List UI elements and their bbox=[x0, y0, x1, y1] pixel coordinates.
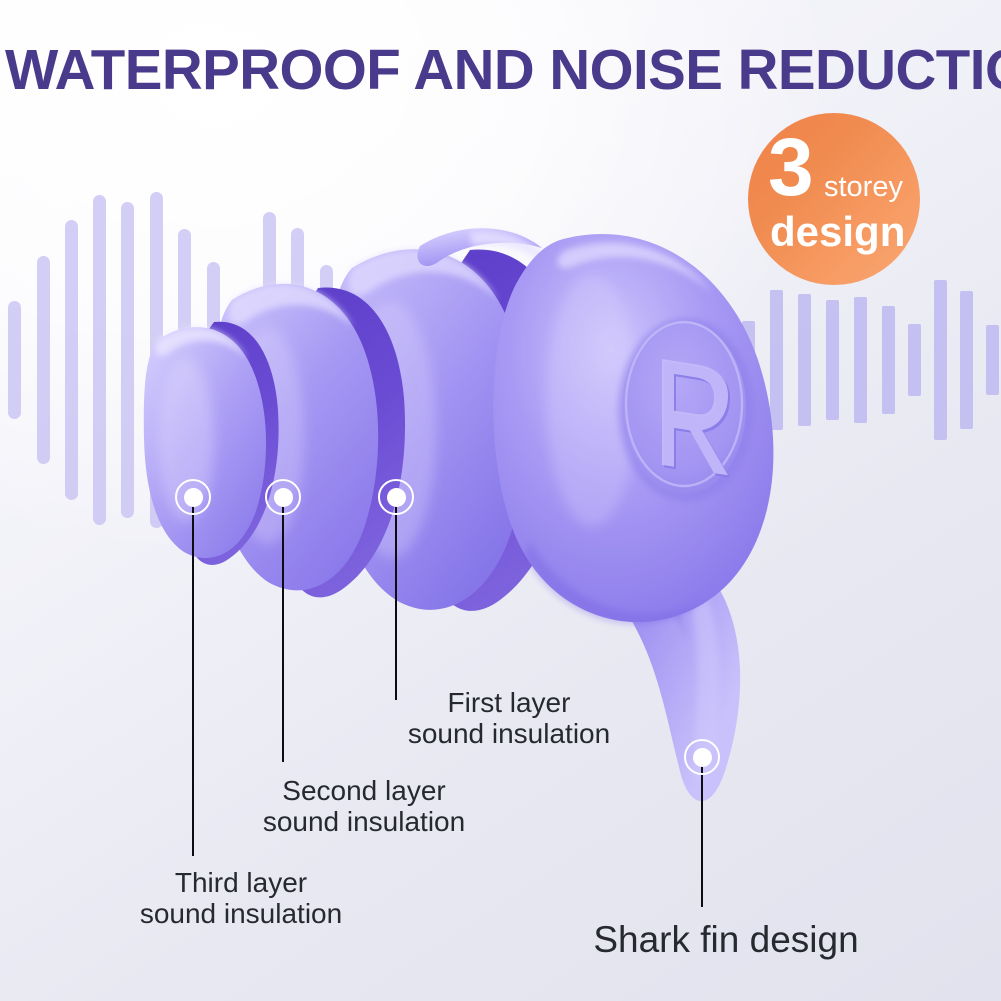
callout-label-line1: First layer bbox=[408, 688, 610, 719]
callout-label-line2: sound insulation bbox=[408, 719, 610, 750]
callout-label-line1: Shark fin design bbox=[593, 920, 858, 961]
callout-marker-dot bbox=[184, 488, 203, 507]
callout-label-first-layer: First layersound insulation bbox=[408, 688, 610, 749]
callout-label-shark-fin: Shark fin design bbox=[593, 920, 858, 961]
callout-label-second-layer: Second layersound insulation bbox=[263, 776, 465, 837]
badge-storey-label: storey bbox=[824, 173, 903, 202]
callout-leader-line-third-layer bbox=[192, 497, 195, 856]
storey-design-badge: 3 storey design bbox=[748, 113, 920, 285]
callout-leader-line-second-layer bbox=[282, 497, 285, 762]
callout-label-line2: sound insulation bbox=[263, 807, 465, 838]
callout-label-line2: sound insulation bbox=[140, 899, 342, 930]
callout-leader-line-first-layer bbox=[395, 497, 398, 700]
badge-design-label: design bbox=[770, 211, 905, 253]
callout-marker-dot bbox=[274, 488, 293, 507]
callout-label-line1: Third layer bbox=[140, 868, 342, 899]
product-marketing-image: WATERPROOF AND NOISE REDUCTION 3 storey … bbox=[0, 0, 1001, 1001]
callout-label-third-layer: Third layersound insulation bbox=[140, 868, 342, 929]
callout-marker-dot bbox=[387, 488, 406, 507]
badge-number: 3 bbox=[768, 127, 814, 209]
page-title: WATERPROOF AND NOISE REDUCTION bbox=[5, 42, 996, 99]
callout-label-line1: Second layer bbox=[263, 776, 465, 807]
callout-leader-line-shark-fin bbox=[701, 757, 704, 907]
callout-marker-dot bbox=[693, 748, 712, 767]
